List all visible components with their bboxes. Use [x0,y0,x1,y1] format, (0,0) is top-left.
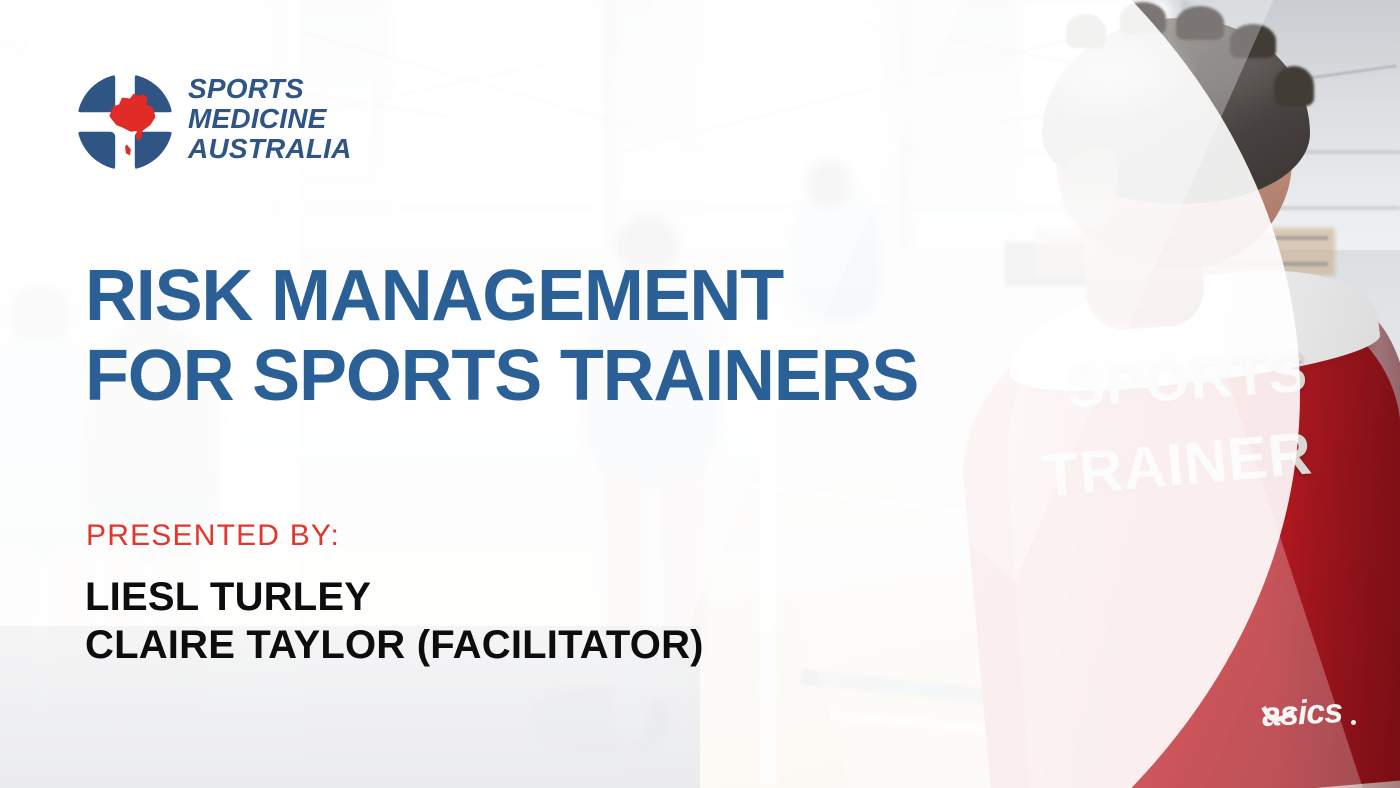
title-slide: SPORTS TRAINER asics [0,0,1400,788]
hair-tuft [1274,66,1314,106]
page-title: RISK MANAGEMENT FOR SPORTS TRAINERS [85,256,918,416]
sports-medicine-australia-logo-icon [76,72,174,172]
asics-trademark-dot [1351,720,1356,725]
brand-logo: SPORTS MEDICINE AUSTRALIA [76,70,362,178]
presented-by-label: PRESENTED BY: [86,519,340,553]
logo-wordmark: SPORTS MEDICINE AUSTRALIA [188,74,352,164]
presenter-names: LIESL TURLEY CLAIRE TAYLOR (FACILITATOR) [85,573,704,669]
